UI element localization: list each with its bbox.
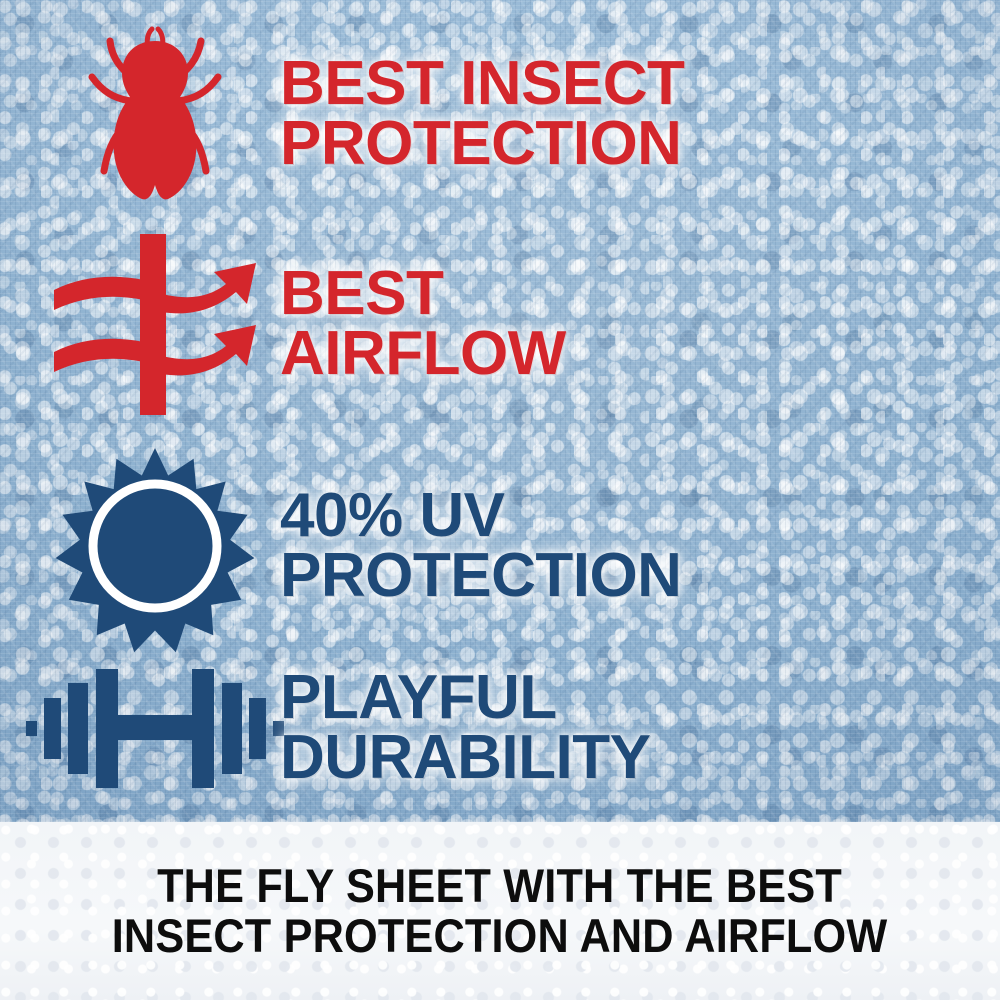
feature-row-uv-protection: 40% UV PROTECTION xyxy=(30,442,970,650)
sun-uv-icon-cell xyxy=(30,446,280,646)
caption-band: THE FLY SHEET WITH THE BEST INSECT PROTE… xyxy=(0,822,1000,1000)
feature-label-insect-protection: BEST INSECT PROTECTION xyxy=(280,54,684,173)
feature-label-uv-protection: 40% UV PROTECTION xyxy=(280,486,681,605)
airflow-icon xyxy=(48,232,263,417)
caption-headline: THE FLY SHEET WITH THE BEST INSECT PROTE… xyxy=(90,861,910,961)
fly-icon xyxy=(80,19,230,209)
feature-row-airflow: BEST AIRFLOW xyxy=(30,226,970,422)
feature-label-durability: PLAYFUL DURABILITY xyxy=(280,668,650,787)
dumbbell-icon xyxy=(24,663,286,793)
product-feature-poster: BEST INSECT PROTECTION BEST AIRFLOW xyxy=(0,0,1000,1000)
sun-uv-icon xyxy=(55,446,255,646)
feature-row-insect-protection: BEST INSECT PROTECTION xyxy=(30,14,970,214)
dumbbell-icon-cell xyxy=(30,663,280,793)
fly-icon-cell xyxy=(30,19,280,209)
airflow-icon-cell xyxy=(30,232,280,417)
feature-label-airflow: BEST AIRFLOW xyxy=(280,264,566,383)
feature-row-durability: PLAYFUL DURABILITY xyxy=(30,648,970,808)
